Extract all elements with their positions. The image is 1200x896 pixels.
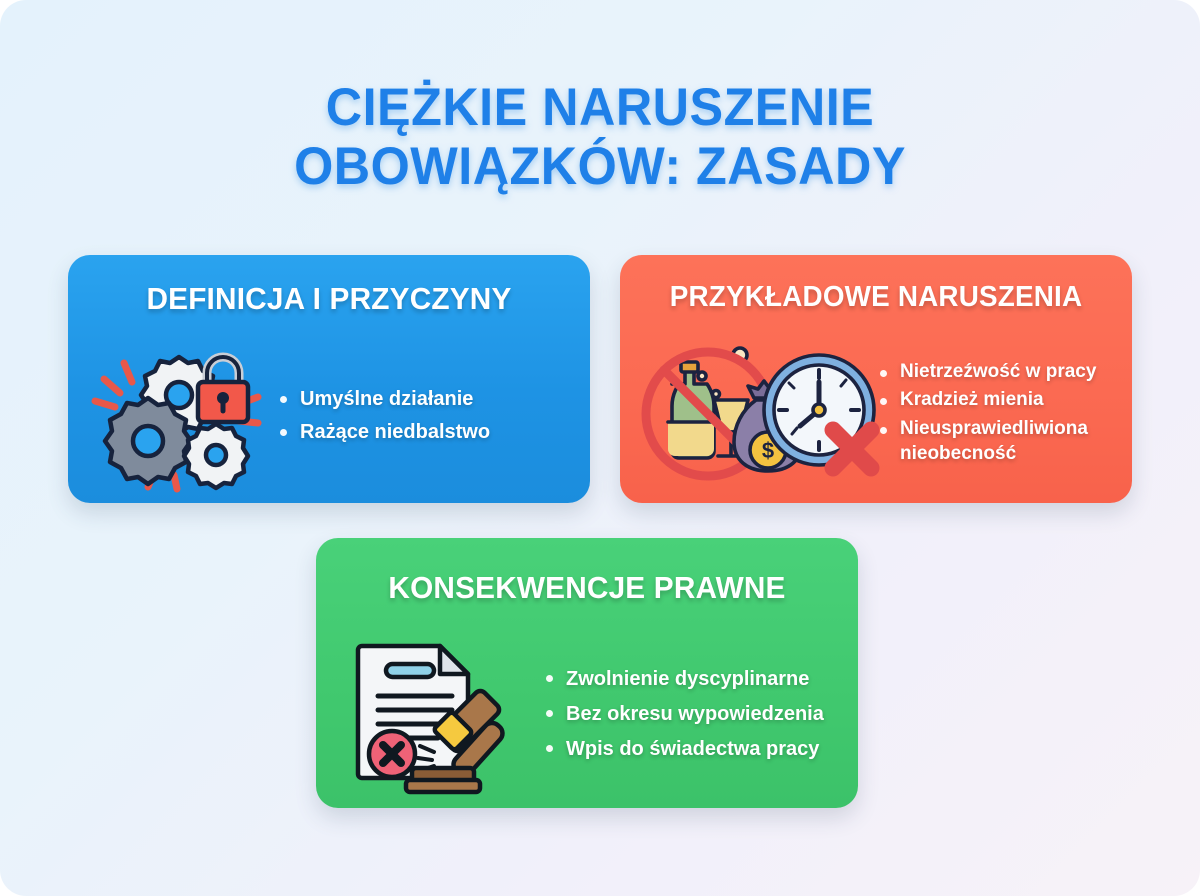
list-item: Nietrzeźwość w pracy — [878, 360, 1124, 385]
list-item: Zwolnienie dyscyplinarne — [544, 665, 824, 694]
card-konsekwencje-prawne[interactable]: KONSEKWENCJE PRAWNE — [316, 538, 858, 808]
list-item: Bez okresu wypowiedzenia — [544, 700, 824, 729]
card-body: Umyślne działanie Rażące niedbalstwo — [82, 341, 576, 491]
card-definicja-i-przyczyny[interactable]: DEFINICJA I PRZYCZYNY — [68, 255, 590, 503]
no-alcohol-moneybag-clock-icon: $ — [628, 338, 878, 493]
card-heading: KONSEKWENCJE PRAWNE — [327, 570, 847, 606]
document-gavel-icon — [340, 634, 530, 794]
card-bullet-list: Umyślne działanie Rażące niedbalstwo — [278, 386, 490, 446]
card-bullet-list: Nietrzeźwość w pracy Kradzież mienia Nie… — [878, 360, 1124, 471]
infographic-canvas: CIĘŻKIE NARUSZENIE OBOWIĄZKÓW: ZASADY DE… — [0, 0, 1200, 896]
card-heading: DEFINICJA I PRZYCZYNY — [78, 281, 579, 317]
list-item: Wpis do świadectwa pracy — [544, 735, 824, 764]
card-body: Zwolnienie dyscyplinarne Bez okresu wypo… — [340, 634, 840, 794]
card-bullet-list: Zwolnienie dyscyplinarne Bez okresu wypo… — [544, 665, 824, 764]
page-title: CIĘŻKIE NARUSZENIE OBOWIĄZKÓW: ZASADY — [30, 78, 1170, 197]
page-title-line-2: OBOWIĄZKÓW: ZASADY — [30, 137, 1170, 196]
list-item: Nieusprawiedliwiona nieobecność — [878, 417, 1124, 466]
list-item: Rażące niedbalstwo — [278, 419, 490, 446]
list-item: Kradzież mienia — [878, 388, 1124, 413]
list-item: Umyślne działanie — [278, 386, 490, 413]
card-przykladowe-naruszenia[interactable]: PRZYKŁADOWE NARUSZENIA — [620, 255, 1132, 503]
gears-padlock-icon — [82, 341, 272, 491]
card-body: $ — [628, 337, 1124, 493]
page-title-line-1: CIĘŻKIE NARUSZENIE — [30, 78, 1170, 137]
card-heading: PRZYKŁADOWE NARUSZENIA — [630, 281, 1122, 314]
